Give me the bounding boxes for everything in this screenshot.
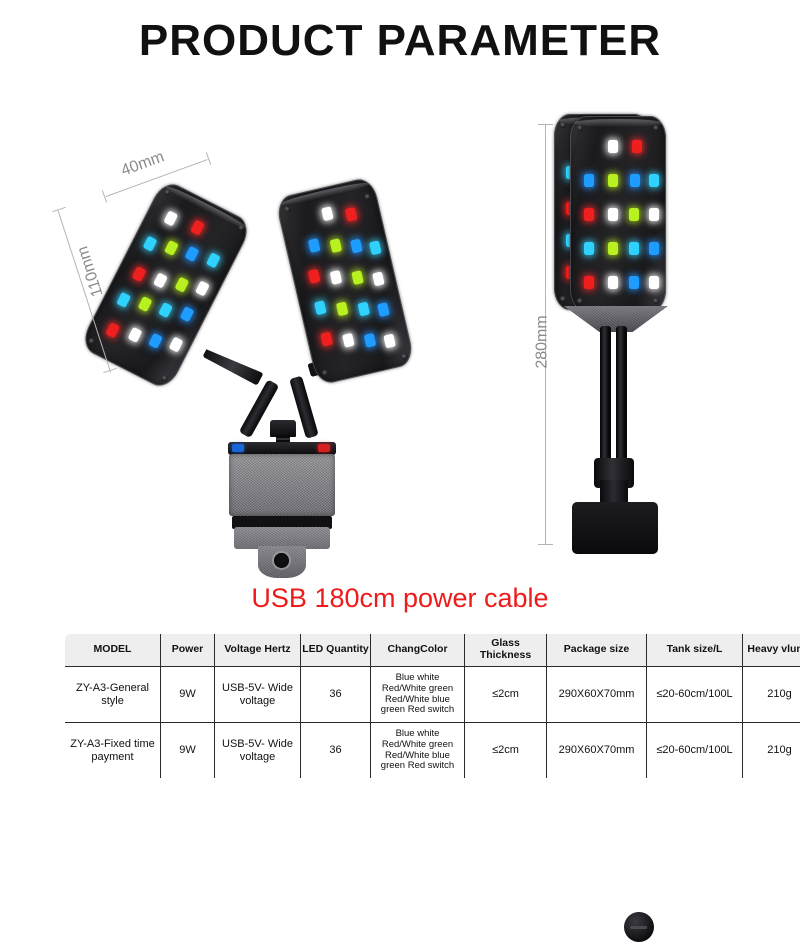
clamp-body	[229, 454, 335, 516]
panel-screw-icon	[87, 337, 95, 345]
header-heavy-vlume: Heavy vlume	[743, 634, 800, 667]
product-image-left-angled-view	[110, 175, 470, 535]
cell-tank-size: ≤20-60cm/100L	[647, 723, 743, 779]
panel-screw-icon	[653, 298, 659, 304]
led-panel-front	[570, 116, 666, 312]
panel-screw-icon	[653, 125, 659, 131]
cell-glass: ≤2cm	[465, 723, 547, 779]
panel-neck-left	[202, 344, 263, 385]
table-row: ZY-A3-Fixed time payment 9W USB-5V- Wide…	[65, 723, 800, 779]
clamp-base-black	[572, 502, 658, 554]
header-glass: Glass Thickness	[465, 634, 547, 667]
cell-power: 9W	[161, 723, 215, 779]
dimension-label-total-height: 280mm	[534, 315, 552, 368]
cell-chang-color: Blue whiteRed/White greenRed/White blueg…	[371, 667, 465, 723]
table-header-row: MODEL Power Voltage Hertz LED Quantity C…	[65, 634, 800, 667]
product-image-right-front-view	[548, 110, 678, 555]
cell-model: ZY-A3-Fixed time payment	[65, 723, 161, 779]
cell-model: ZY-A3-General style	[65, 667, 161, 723]
header-tank-size: Tank size/L	[647, 634, 743, 667]
cell-glass: ≤2cm	[465, 667, 547, 723]
panel-screw-icon	[322, 369, 329, 376]
header-voltage: Voltage Hertz	[215, 634, 301, 667]
gooseneck-arm-right	[616, 326, 627, 474]
panel-screw-icon	[163, 188, 171, 196]
cell-power: 9W	[161, 667, 215, 723]
cell-package-size: 290X60X70mm	[547, 667, 647, 723]
panel-screw-icon	[237, 224, 245, 232]
thumbscrew-slot	[324, 421, 330, 433]
cell-voltage: USB-5V- Wide voltage	[215, 723, 301, 779]
cell-heavy-vlume: 210g	[743, 667, 800, 723]
header-power: Power	[161, 634, 215, 667]
cell-led-quantity: 36	[301, 667, 371, 723]
usb-cable-caption: USB 180cm power cable	[0, 583, 800, 614]
gooseneck-arm-left	[600, 326, 611, 474]
header-model: MODEL	[65, 634, 161, 667]
spec-table: MODEL Power Voltage Hertz LED Quantity C…	[64, 633, 800, 779]
header-chang-color: ChangColor	[371, 634, 465, 667]
cell-voltage: USB-5V- Wide voltage	[215, 667, 301, 723]
dimension-label-panel-length: 110mm	[74, 244, 107, 299]
panel-screw-icon	[560, 296, 566, 302]
indicator-led-red	[318, 444, 330, 452]
header-package-size: Package size	[547, 634, 647, 667]
header-led-quantity: LED Quantity	[301, 634, 371, 667]
spec-table-container: MODEL Power Voltage Hertz LED Quantity C…	[64, 633, 766, 779]
dimension-tick-height-top	[538, 124, 553, 125]
panel-screw-icon	[577, 298, 583, 304]
table-row: ZY-A3-General style 9W USB-5V- Wide volt…	[65, 667, 800, 723]
panel-screw-icon	[560, 122, 566, 128]
clamp-mount-metal	[226, 420, 338, 570]
indicator-led-blue	[232, 444, 244, 452]
panel-screw-icon	[577, 125, 583, 131]
page-title: PRODUCT PARAMETER	[0, 16, 800, 66]
cell-heavy-vlume: 210g	[743, 723, 800, 779]
cell-chang-color: Blue whiteRed/White greenRed/White blueg…	[371, 723, 465, 779]
panel-screw-icon	[160, 374, 168, 382]
panel-screw-icon	[364, 193, 371, 200]
cell-led-quantity: 36	[301, 723, 371, 779]
clamp-foot-hole	[274, 553, 289, 568]
panel-screw-icon	[284, 206, 291, 213]
panel-screw-icon	[401, 353, 408, 360]
led-panel-right	[275, 176, 416, 386]
cell-tank-size: ≤20-60cm/100L	[647, 667, 743, 723]
cell-package-size: 290X60X70mm	[547, 723, 647, 779]
base-knob-slot	[630, 926, 647, 929]
dimension-tick-height-bottom	[538, 544, 553, 545]
